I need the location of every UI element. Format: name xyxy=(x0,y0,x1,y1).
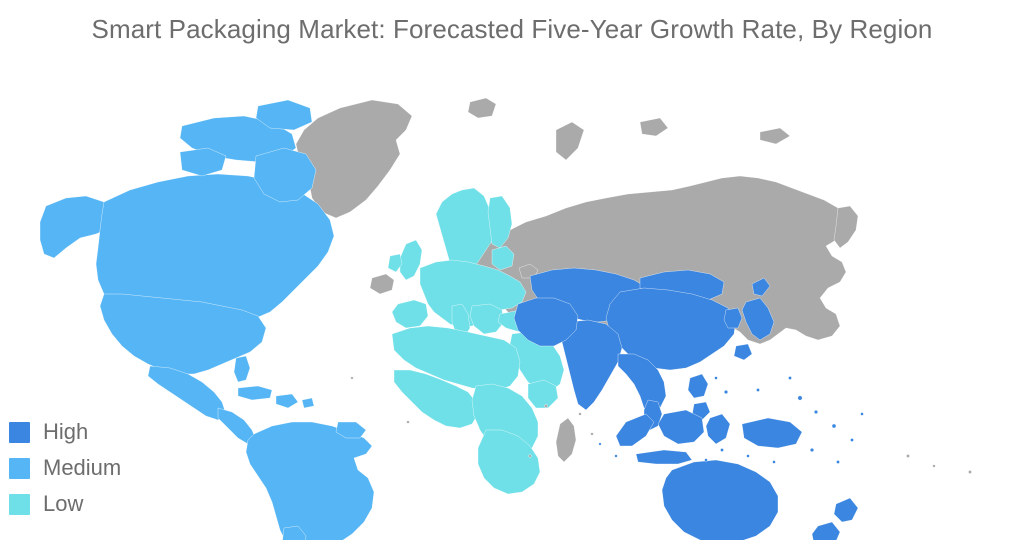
legend-item-medium[interactable]: Medium xyxy=(9,450,121,486)
country-australia xyxy=(662,460,778,540)
island-sulawesi xyxy=(706,414,730,444)
country-madagascar xyxy=(556,418,576,462)
legend-label-low: Low xyxy=(43,493,83,515)
legend-item-high[interactable]: High xyxy=(9,414,121,450)
legend-swatch-medium xyxy=(9,458,30,479)
region-korea xyxy=(724,308,742,328)
legend-item-low[interactable]: Low xyxy=(9,486,121,522)
page-title: Smart Packaging Market: Forecasted Five-… xyxy=(0,14,1024,45)
region-kamchatka xyxy=(834,206,858,248)
legend-label-medium: Medium xyxy=(43,457,121,479)
country-iceland xyxy=(370,274,394,294)
legend-swatch-high xyxy=(9,422,30,443)
island-java xyxy=(636,450,692,464)
map-legend: High Medium Low xyxy=(9,414,121,522)
country-united-kingdom xyxy=(400,240,422,280)
pacific-islands xyxy=(705,376,864,463)
subregion-iberia xyxy=(392,300,428,328)
island-svalbard xyxy=(468,98,496,118)
world-choropleth-map xyxy=(0,78,1024,540)
legend-swatch-low xyxy=(9,494,30,515)
indian-ocean-islands xyxy=(599,443,618,458)
island-severnaya-zemlya xyxy=(640,118,668,136)
legend-label-high: High xyxy=(43,421,88,443)
region-caribbean xyxy=(238,386,272,400)
country-greenland xyxy=(296,100,412,218)
island-novaya-zemlya xyxy=(556,122,584,160)
island-new-siberian xyxy=(760,128,790,144)
island-hispaniola xyxy=(276,394,298,408)
world-map-container xyxy=(0,78,1024,540)
island-puerto-rico xyxy=(302,398,314,408)
country-mexico xyxy=(148,366,226,420)
country-new-zealand xyxy=(812,498,858,540)
island-sumatra xyxy=(616,414,654,446)
continent-south-america xyxy=(246,422,374,540)
country-papua-new-guinea xyxy=(742,418,802,448)
region-florida xyxy=(234,356,250,382)
